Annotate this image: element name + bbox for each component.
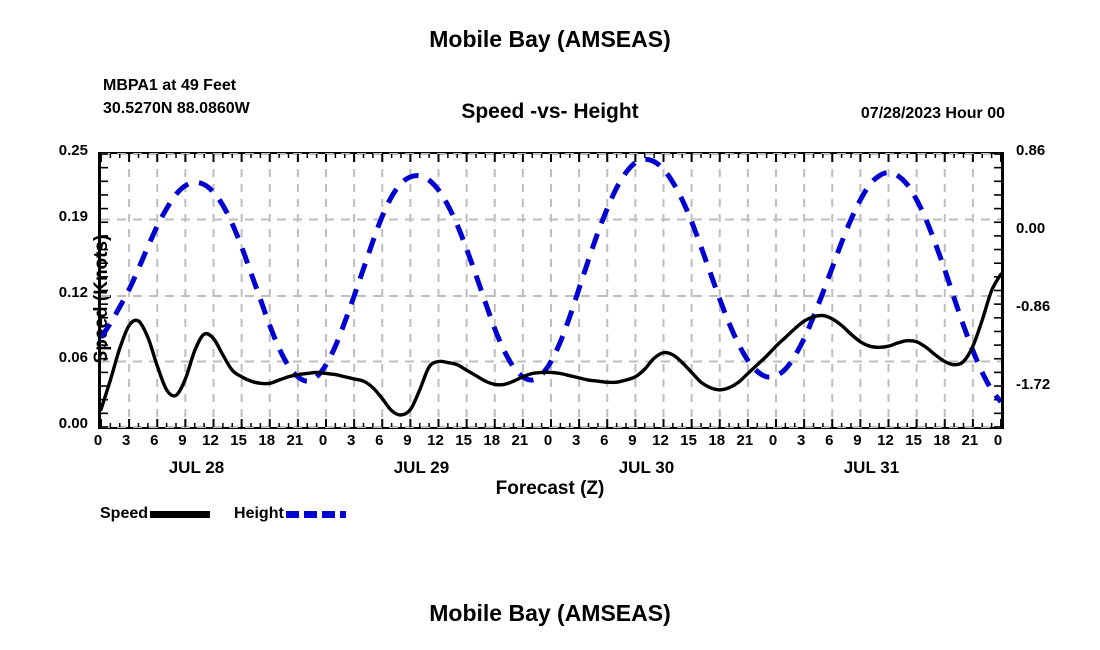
day-label-1: JUL 29 <box>394 458 449 478</box>
x-tick-31: 21 <box>962 432 979 449</box>
x-tick-14: 18 <box>483 432 500 449</box>
x-tick-1: 3 <box>122 432 130 449</box>
x-tick-9: 3 <box>347 432 355 449</box>
y-tick-left-4: 0.25 <box>59 142 88 159</box>
model-run-time: 07/28/2023 Hour 00 <box>861 105 1005 123</box>
legend: Speed Height <box>100 505 346 523</box>
x-tick-26: 6 <box>825 432 833 449</box>
x-tick-28: 12 <box>877 432 894 449</box>
x-tick-24: 0 <box>769 432 777 449</box>
y-tick-right-3: 0.86 <box>1016 142 1045 159</box>
legend-swatch-height-line <box>286 511 346 518</box>
x-tick-18: 6 <box>600 432 608 449</box>
y-tick-right-1: -0.86 <box>1016 298 1050 315</box>
x-tick-22: 18 <box>708 432 725 449</box>
x-tick-27: 9 <box>853 432 861 449</box>
y-tick-left-1: 0.06 <box>59 349 88 366</box>
y-tick-right-2: 0.00 <box>1016 220 1045 237</box>
x-tick-13: 15 <box>455 432 472 449</box>
x-tick-30: 18 <box>933 432 950 449</box>
x-tick-0: 0 <box>94 432 102 449</box>
chart-title-bottom: Mobile Bay (AMSEAS) <box>0 600 1100 627</box>
y-tick-right-0: -1.72 <box>1016 376 1050 393</box>
x-tick-25: 3 <box>797 432 805 449</box>
x-tick-11: 9 <box>403 432 411 449</box>
x-tick-23: 21 <box>737 432 754 449</box>
x-tick-29: 15 <box>905 432 922 449</box>
y-tick-left-0: 0.00 <box>59 415 88 432</box>
y-tick-left-3: 0.19 <box>59 208 88 225</box>
x-tick-10: 6 <box>375 432 383 449</box>
x-tick-16: 0 <box>544 432 552 449</box>
x-axis-title: Forecast (Z) <box>0 478 1100 500</box>
x-tick-6: 18 <box>258 432 275 449</box>
legend-item-height: Height <box>234 505 346 523</box>
station-name-depth: MBPA1 at 49 Feet <box>103 74 250 97</box>
legend-label-speed: Speed <box>100 505 148 523</box>
day-label-0: JUL 28 <box>169 458 224 478</box>
x-tick-17: 3 <box>572 432 580 449</box>
x-tick-19: 9 <box>628 432 636 449</box>
x-tick-21: 15 <box>680 432 697 449</box>
day-label-3: JUL 31 <box>844 458 899 478</box>
y-tick-left-2: 0.12 <box>59 284 88 301</box>
legend-item-speed: Speed <box>100 505 210 523</box>
x-tick-4: 12 <box>202 432 219 449</box>
x-tick-20: 12 <box>652 432 669 449</box>
legend-label-height: Height <box>234 505 284 523</box>
series-group <box>101 159 1001 415</box>
legend-swatch-speed-line <box>150 511 210 518</box>
chart-page: Mobile Bay (AMSEAS) MBPA1 at 49 Feet 30.… <box>0 0 1100 650</box>
chart-title-top: Mobile Bay (AMSEAS) <box>0 26 1100 53</box>
x-tick-5: 15 <box>230 432 247 449</box>
x-tick-3: 9 <box>178 432 186 449</box>
x-tick-12: 12 <box>427 432 444 449</box>
day-label-2: JUL 30 <box>619 458 674 478</box>
plot-area <box>98 152 1004 429</box>
x-tick-8: 0 <box>319 432 327 449</box>
x-tick-32: 0 <box>994 432 1002 449</box>
x-tick-15: 21 <box>512 432 529 449</box>
plot-canvas <box>101 154 1001 427</box>
x-tick-2: 6 <box>150 432 158 449</box>
x-tick-7: 21 <box>287 432 304 449</box>
